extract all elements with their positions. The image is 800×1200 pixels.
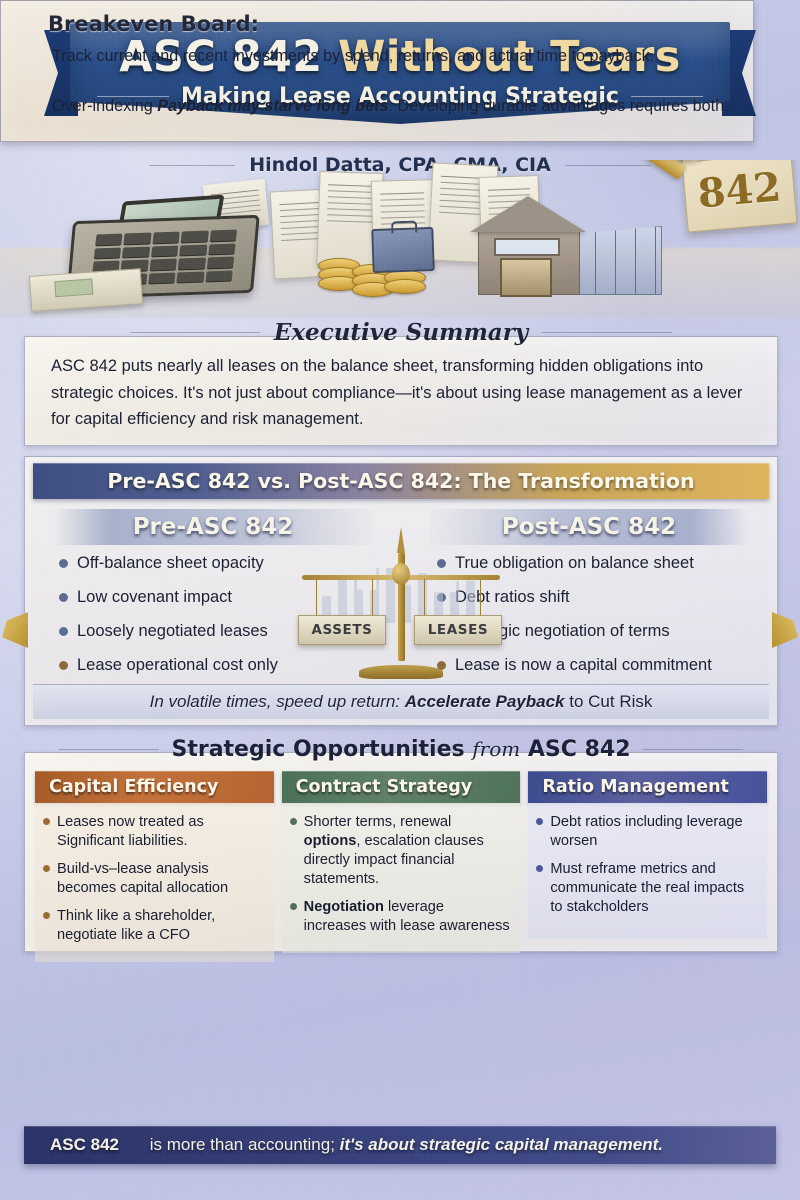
bullet-dot-icon <box>290 818 297 825</box>
list-item: Negotiation leverage increases with leas… <box>290 898 511 936</box>
briefcase-icon <box>371 227 434 273</box>
list-item-label: Leases now treated as Significant liabil… <box>57 813 264 851</box>
scale-pan-assets-label: ASSETS <box>311 622 372 638</box>
heading-rule-right <box>542 332 672 333</box>
strategic-card-title: Ratio Management <box>542 777 729 797</box>
heading-rule-left <box>130 332 260 333</box>
strategic-card-title: Contract Strategy <box>296 777 473 797</box>
strategic-card-header: Ratio Management <box>528 771 767 803</box>
strategic-heading-italic: from <box>472 737 520 761</box>
warehouse-window <box>494 238 560 256</box>
strategic-card-title: Capital Efficiency <box>49 777 218 797</box>
closing-banner-text: ASC 842 is more than accounting; it's ab… <box>24 1135 663 1155</box>
list-item-label: Low covenant impact <box>77 587 232 608</box>
footer-lead: In volatile times, speed up return: <box>150 692 400 711</box>
closing-lead: ASC 842 <box>50 1135 119 1154</box>
strategic-cards: Capital EfficiencyLeases now treated as … <box>35 771 767 962</box>
scale-pan-leases-label: LEASES <box>428 622 489 638</box>
bullet-dot-icon <box>536 818 543 825</box>
balance-scale-icon: ASSETS LEASES <box>296 549 506 679</box>
strategic-card-body: Leases now treated as Significant liabil… <box>35 803 274 962</box>
transformation-footer-text: In volatile times, speed up return: Acce… <box>150 692 653 712</box>
scale-string <box>480 579 481 619</box>
closing-emphasis: it's about strategic capital management. <box>340 1135 663 1154</box>
footer-tail: to Cut Risk <box>569 692 652 711</box>
list-item-label: Build-vs–lease analysis becomes capital … <box>57 860 264 898</box>
scale-pan-assets: ASSETS <box>298 615 386 645</box>
tag-number: 842 <box>684 162 796 218</box>
scale-knob <box>392 563 410 585</box>
bullet-dot-icon <box>290 903 297 910</box>
hero-illustration: 842 <box>0 160 800 318</box>
scroll-curl-right-icon <box>772 612 798 648</box>
bullet-dot-icon <box>59 593 68 602</box>
scale-pan-leases: LEASES <box>414 615 502 645</box>
strategic-card-body: Shorter terms, renewal options, escalati… <box>282 803 521 953</box>
scale-string <box>316 579 317 619</box>
warehouse-roof <box>470 196 586 232</box>
bullet-dot-icon <box>536 865 543 872</box>
strategic-card[interactable]: Ratio ManagementDebt ratios including le… <box>528 771 767 962</box>
strategic-card-header: Capital Efficiency <box>35 771 274 803</box>
transformation-panel: Pre-ASC 842 vs. Post-ASC 842: The Transf… <box>24 456 778 726</box>
list-item-label: Loosely negotiated leases <box>77 621 268 642</box>
bullet-dot-icon <box>59 627 68 636</box>
breakeven-paragraph-1: Track current and recent investments by … <box>52 44 770 69</box>
key-and-tag-graphic: 842 <box>622 160 792 248</box>
breakeven-p2-tail: . Developing durable advantages requires… <box>389 97 729 115</box>
bullet-dot-icon <box>43 818 50 825</box>
scale-base <box>359 665 443 679</box>
strategic-heading-tail: ASC 842 <box>528 737 631 762</box>
bullet-dot-icon <box>43 865 50 872</box>
executive-summary-body: ASC 842 puts nearly all leases on the ba… <box>51 353 755 433</box>
key-shaft <box>627 160 687 180</box>
list-item-label: Debt ratios including leverage worsen <box>550 813 757 851</box>
scroll-curl-left-icon <box>2 612 28 648</box>
strategic-heading-main: Strategic Opportunities <box>171 737 464 762</box>
bullet-dot-icon <box>59 661 68 670</box>
breakeven-paragraph-2: Over-indexing Payback may starve long be… <box>52 94 770 119</box>
closing-banner: ASC 842 is more than accounting; it's ab… <box>24 1126 776 1164</box>
strategic-card[interactable]: Contract StrategyShorter terms, renewal … <box>282 771 521 962</box>
list-item-label: Off-balance sheet opacity <box>77 553 264 574</box>
list-item: Shorter terms, renewal options, escalati… <box>290 813 511 889</box>
pre-asc-heading: Pre-ASC 842 <box>133 514 294 540</box>
bullet-dot-icon <box>43 912 50 919</box>
post-asc-heading: Post-ASC 842 <box>502 514 676 540</box>
list-item-label: Think like a shareholder, negotiate like… <box>57 907 264 945</box>
breakeven-heading: Breakeven Board: <box>48 12 259 36</box>
footer-emphasis: Accelerate Payback <box>405 692 565 711</box>
bullet-dot-icon <box>59 559 68 568</box>
transformation-banner: Pre-ASC 842 vs. Post-ASC 842: The Transf… <box>33 463 769 499</box>
closing-middle: is more than accounting; <box>119 1135 340 1154</box>
post-asc-column-header: Post-ASC 842 <box>429 509 749 545</box>
list-item: Debt ratios including leverage worsen <box>536 813 757 851</box>
executive-summary-heading: Executive Summary <box>274 319 528 346</box>
list-item: Build-vs–lease analysis becomes capital … <box>43 860 264 898</box>
list-item: Must reframe metrics and communicate the… <box>536 860 757 917</box>
list-item-label: Negotiation leverage increases with leas… <box>304 898 511 936</box>
list-item-label: Lease operational cost only <box>77 655 278 676</box>
transformation-footer: In volatile times, speed up return: Acce… <box>33 684 769 719</box>
infographic-page: ASC 842 Without Tears Making Lease Accou… <box>0 0 800 1200</box>
list-item-label: Shorter terms, renewal options, escalati… <box>304 813 511 889</box>
list-item: Think like a shareholder, negotiate like… <box>43 907 264 945</box>
strategic-rule-left <box>59 749 159 750</box>
strategic-rule-right <box>643 749 743 750</box>
pre-asc-column-header: Pre-ASC 842 <box>53 509 373 545</box>
strategic-card-body: Debt ratios including leverage worsenMus… <box>528 803 767 939</box>
scale-tip <box>397 527 405 553</box>
strategic-opportunities-panel: Strategic Opportunities from ASC 842 Cap… <box>24 752 778 952</box>
strategic-card[interactable]: Capital EfficiencyLeases now treated as … <box>35 771 274 962</box>
scale-string <box>372 579 373 619</box>
price-tag-icon: 842 <box>681 160 798 233</box>
list-item: Leases now treated as Significant liabil… <box>43 813 264 851</box>
scale-string <box>424 579 425 619</box>
transformation-banner-label: Pre-ASC 842 vs. Post-ASC 842: The Transf… <box>107 469 694 493</box>
strategic-card-header: Contract Strategy <box>282 771 521 803</box>
strategic-heading: Strategic Opportunities from ASC 842 <box>171 737 630 762</box>
breakeven-p2-emphasis: Payback may starve long bets <box>157 97 388 115</box>
executive-summary-heading-row: Executive Summary <box>25 319 777 346</box>
breakeven-p2-lead: Over-indexing <box>52 97 153 115</box>
warehouse-door <box>500 258 552 297</box>
tag-scribble <box>697 160 777 162</box>
list-item-label: Must reframe metrics and communicate the… <box>550 860 757 917</box>
strategic-heading-row: Strategic Opportunities from ASC 842 <box>25 737 777 762</box>
executive-summary-panel: Executive Summary ASC 842 puts nearly al… <box>24 336 778 446</box>
